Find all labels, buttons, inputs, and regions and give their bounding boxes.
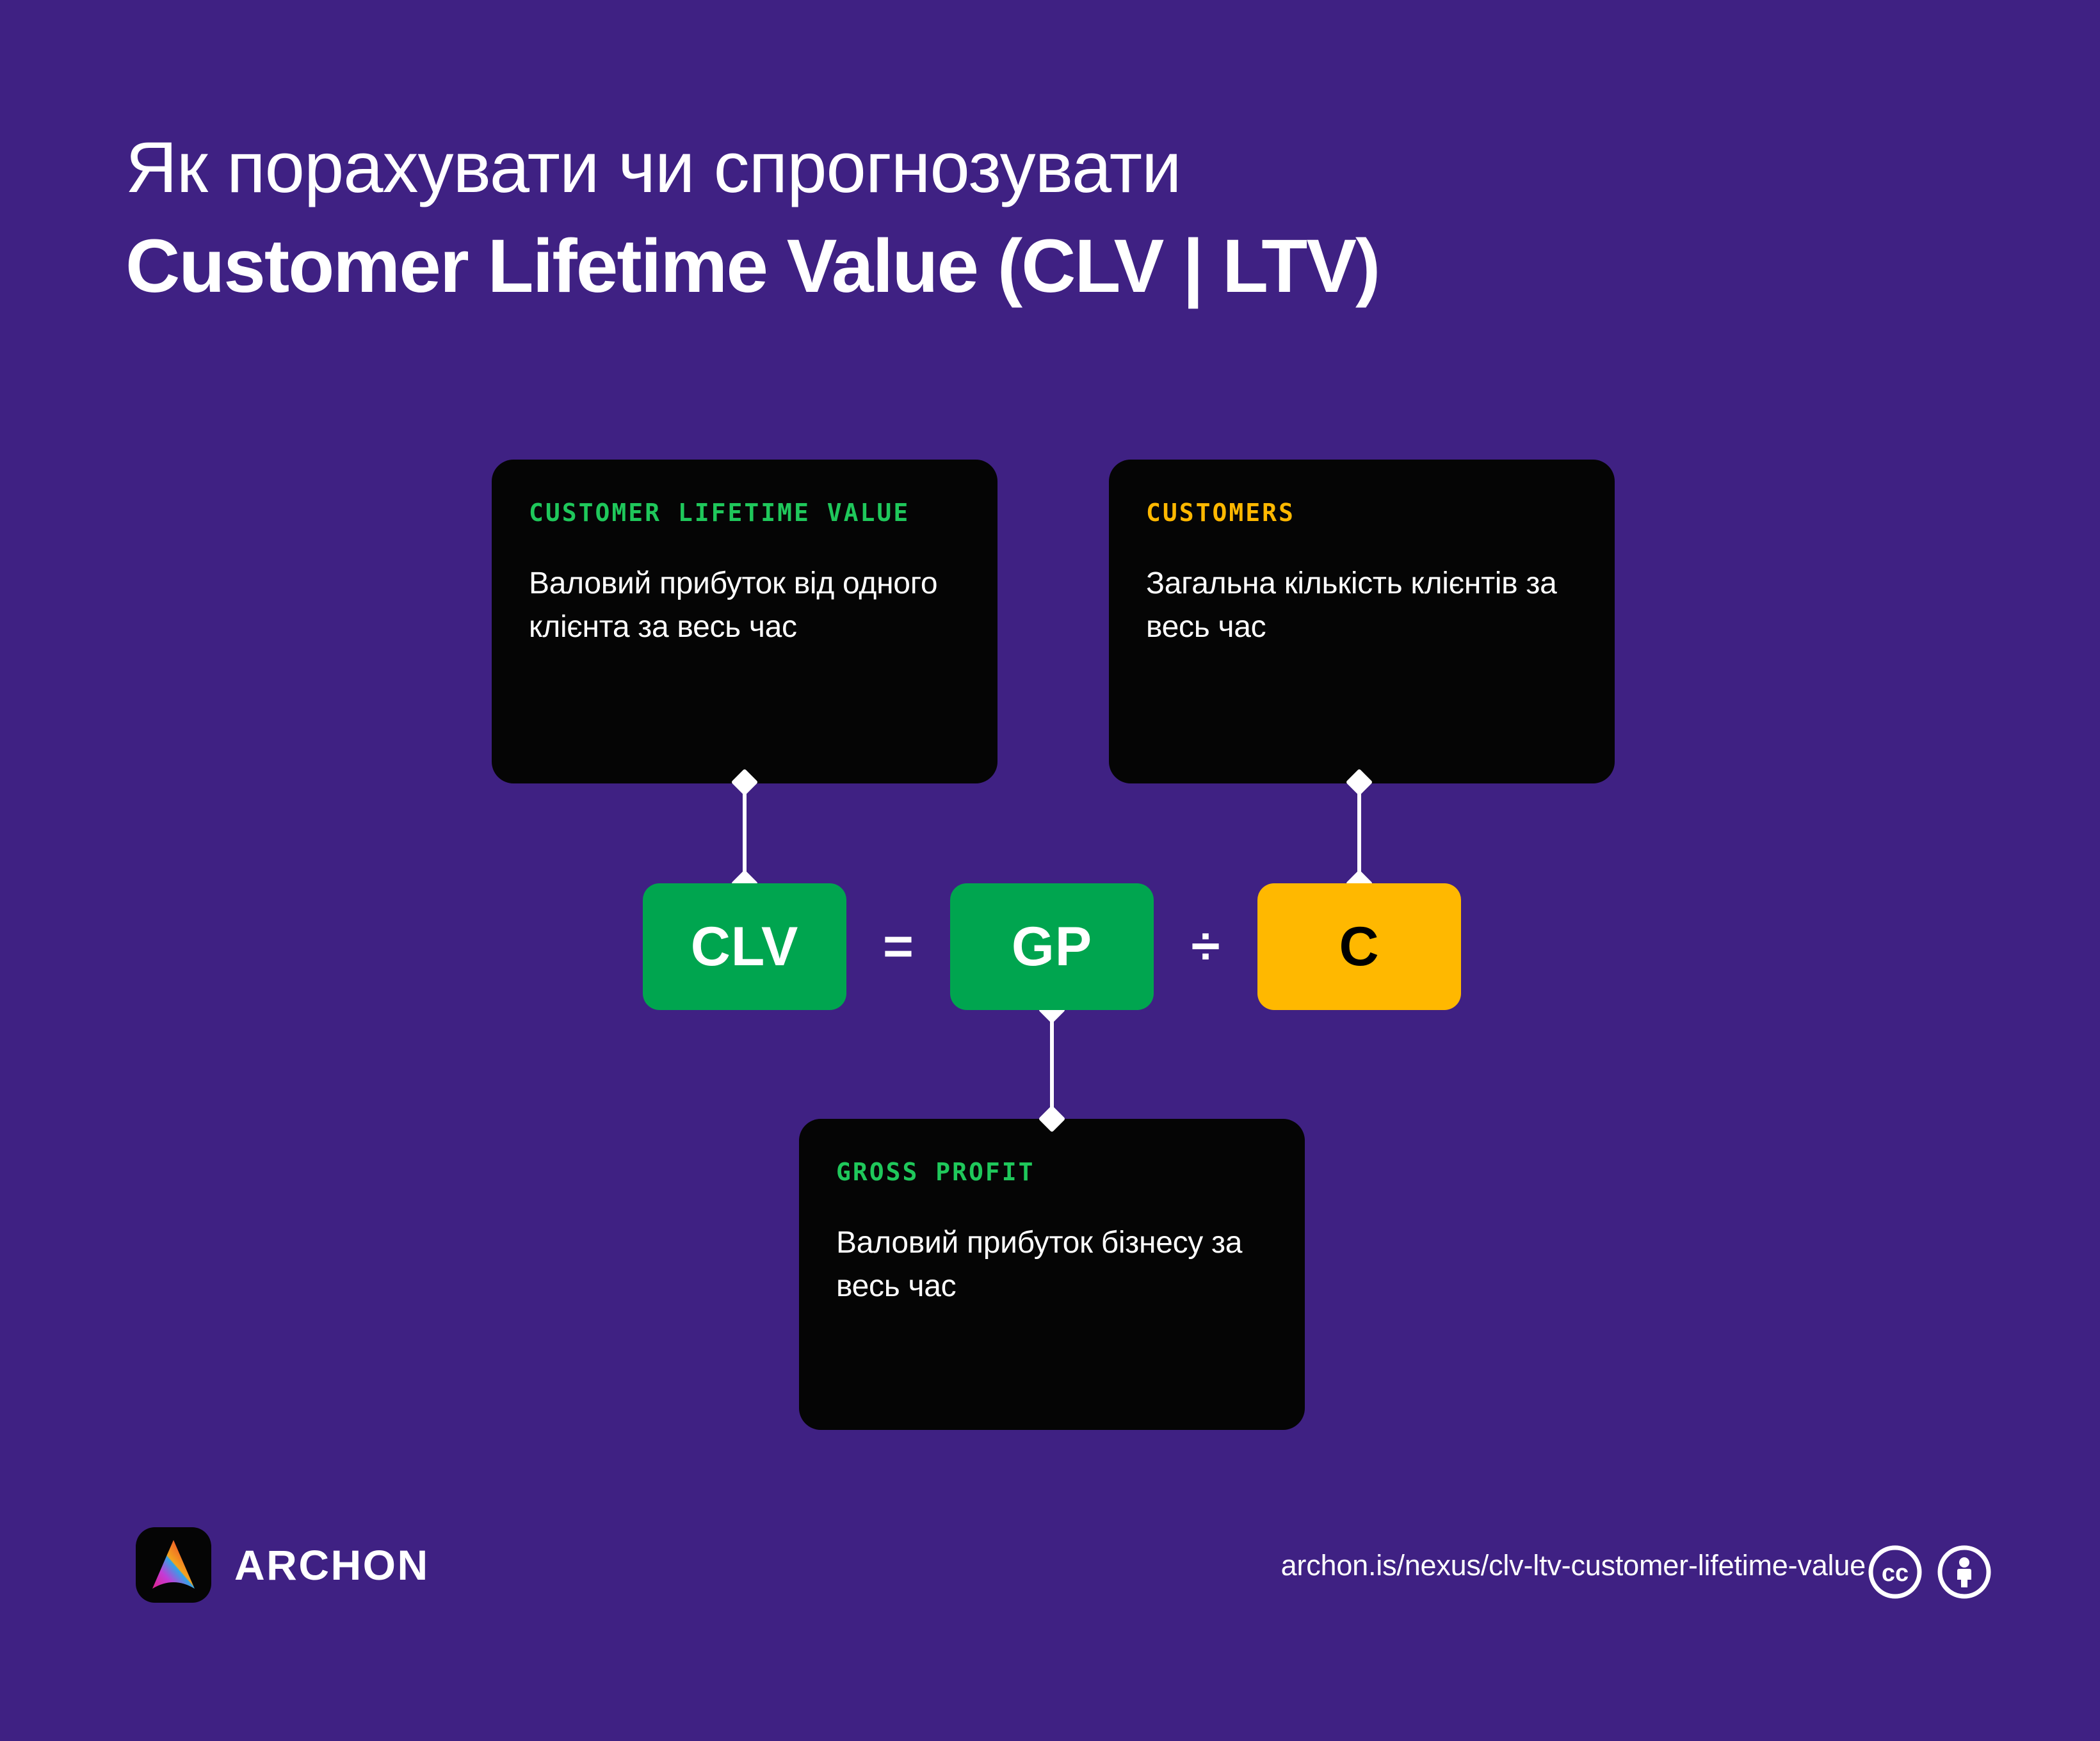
creative-commons-icon: cc: [1867, 1544, 1923, 1600]
formula-operator-divide: ÷: [1154, 883, 1257, 1010]
card-body-clv: Валовий прибуток від одного клієнта за в…: [529, 562, 960, 649]
title-line-secondary: Customer Lifetime Value (CLV | LTV): [125, 221, 1982, 312]
source-url[interactable]: archon.is/nexus/clv-ltv-customer-lifetim…: [1281, 1549, 1866, 1582]
archon-logo-icon: [136, 1527, 211, 1603]
formula-chip-gp: GP: [950, 883, 1154, 1010]
connector-line-customers: [1357, 782, 1361, 883]
infographic-canvas: Як порахувати чи спрогнозувати Customer …: [0, 0, 2100, 1741]
formula-chip-c: C: [1257, 883, 1461, 1010]
card-body-gross-profit: Валовий прибуток бізнесу за весь час: [836, 1221, 1268, 1308]
formula-operator-equals: =: [846, 883, 950, 1010]
card-body-customers: Загальна кількість клієнтів за весь час: [1146, 562, 1578, 649]
attribution-by-icon: [1936, 1544, 1992, 1600]
connector-line-gross-profit: [1050, 1010, 1054, 1119]
license-badges: cc: [1867, 1544, 1992, 1600]
card-label-clv: CUSTOMER LIFETIME VALUE: [529, 501, 960, 525]
brand-lockup: ARCHON: [136, 1527, 430, 1603]
footer: ARCHON archon.is/nexus/clv-ltv-customer-…: [0, 1527, 2100, 1617]
formula-chip-clv: CLV: [643, 883, 846, 1010]
brand-name: ARCHON: [234, 1541, 430, 1589]
title-line-primary: Як порахувати чи спрогнозувати: [125, 125, 1982, 210]
card-label-customers: CUSTOMERS: [1146, 501, 1578, 525]
card-label-gross-profit: GROSS PROFIT: [836, 1160, 1268, 1184]
card-customer-lifetime-value: CUSTOMER LIFETIME VALUE Валовий прибуток…: [492, 460, 997, 783]
connector-line-clv: [743, 782, 747, 883]
page-title: Як порахувати чи спрогнозувати Customer …: [125, 125, 1982, 312]
card-customers: CUSTOMERS Загальна кількість клієнтів за…: [1109, 460, 1615, 783]
card-gross-profit: GROSS PROFIT Валовий прибуток бізнесу за…: [799, 1119, 1305, 1430]
svg-text:cc: cc: [1882, 1560, 1909, 1587]
